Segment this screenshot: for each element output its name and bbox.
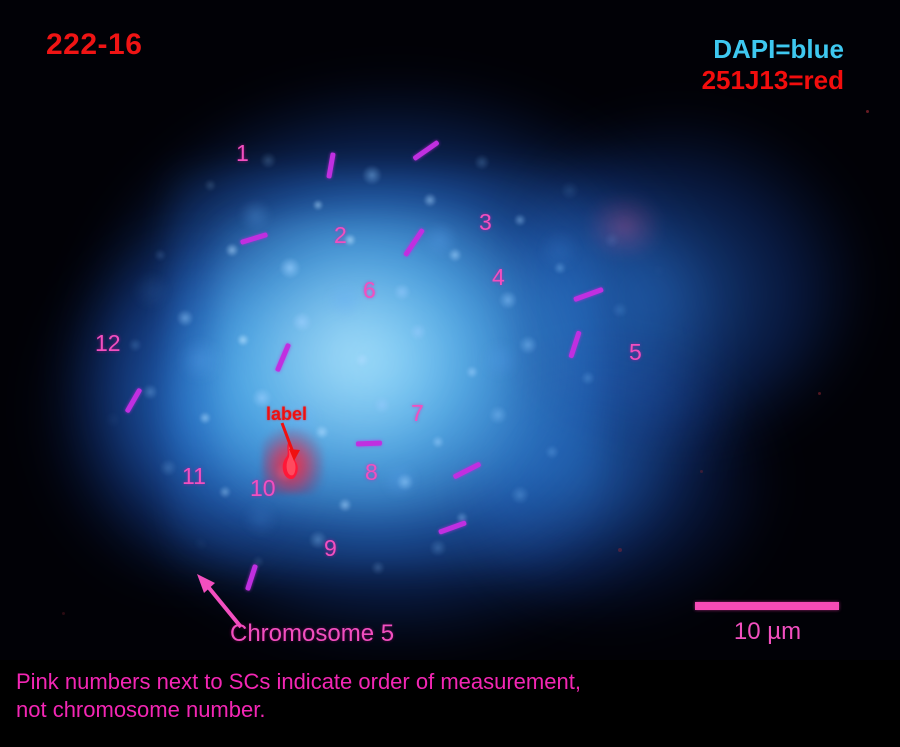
dust-speck (818, 392, 821, 395)
fish-signal-arrow (250, 415, 320, 470)
sc-number-7: 7 (411, 402, 424, 425)
legend-dapi: DAPI=blue (702, 34, 844, 65)
caption-line-2: not chromosome number. (16, 696, 886, 724)
sc-number-9: 9 (324, 537, 337, 560)
sc-number-8: 8 (365, 461, 378, 484)
dust-speck (700, 470, 703, 473)
sc-number-6: 6 (363, 279, 376, 302)
chromosome-5-label: Chromosome 5 (230, 620, 394, 648)
chromatin-speckle-mask (0, 0, 900, 660)
sc-number-3: 3 (479, 211, 492, 234)
dust-speck (618, 548, 622, 552)
sc-number-1: 1 (236, 142, 249, 165)
red-autofluorescence-patch (588, 196, 660, 258)
figure-caption: Pink numbers next to SCs indicate order … (16, 668, 886, 724)
dust-speck (62, 612, 65, 615)
channel-legend: DAPI=blue 251J13=red (702, 34, 844, 95)
chromatin-speckle-coarse (0, 0, 900, 660)
sc-number-12: 12 (95, 332, 121, 355)
fluorescence-field (0, 0, 900, 660)
dust-speck (866, 110, 869, 113)
sc-number-10: 10 (250, 477, 276, 500)
scale-bar (695, 602, 839, 610)
scale-bar-label: 10 µm (660, 618, 875, 646)
legend-probe: 251J13=red (702, 65, 844, 96)
micrograph-canvas: 222-16 DAPI=blue 251J13=red 123456789101… (0, 0, 900, 747)
specimen-title: 222-16 (46, 28, 142, 62)
caption-line-1: Pink numbers next to SCs indicate order … (16, 668, 886, 696)
sc-number-2: 2 (334, 224, 347, 247)
sc-number-5: 5 (629, 341, 642, 364)
sc-tick-mark (356, 441, 382, 447)
sc-number-11: 11 (182, 465, 206, 488)
sc-number-4: 4 (492, 266, 505, 289)
